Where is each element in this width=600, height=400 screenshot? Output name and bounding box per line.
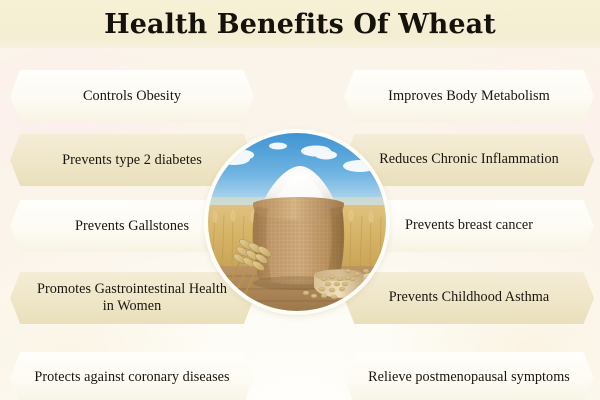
benefit-label: Improves Body Metabolism [366,88,572,105]
benefit-badge-prevents-childhood-asthma[interactable]: Prevents Childhood Asthma [344,272,594,324]
benefit-badge-reduces-chronic-inflammation[interactable]: Reduces Chronic Inflammation [344,134,594,186]
benefit-badge-prevents-type-2-diabetes[interactable]: Prevents type 2 diabetes [10,134,254,186]
benefit-label: Prevents breast cancer [383,217,555,234]
wheat-flour-sack-photo [208,133,386,311]
benefit-label: Reduces Chronic Inflammation [357,151,581,168]
benefit-badge-relieve-postmenopausal[interactable]: Relieve postmenopausal symptoms [344,352,594,400]
benefit-badge-improves-body-metabolism[interactable]: Improves Body Metabolism [344,70,594,122]
benefit-label: Prevents type 2 diabetes [40,152,224,169]
benefit-label: Prevents Gallstones [53,218,211,235]
benefit-label: Promotes Gastrointestinal Health in Wome… [10,281,254,315]
benefit-label: Controls Obesity [61,88,203,105]
benefit-badge-controls-obesity[interactable]: Controls Obesity [10,70,254,122]
benefit-label: Prevents Childhood Asthma [367,289,571,306]
benefit-badge-protects-coronary[interactable]: Protects against coronary diseases [10,352,254,400]
infographic-poster: Health Benefits Of Wheat Controls Obesit… [0,0,600,400]
page-title: Health Benefits Of Wheat [0,0,600,48]
benefit-label: Relieve postmenopausal symptoms [346,369,592,386]
benefit-badge-promotes-gi-health[interactable]: Promotes Gastrointestinal Health in Wome… [10,272,254,324]
benefit-label: Protects against coronary diseases [12,369,251,386]
